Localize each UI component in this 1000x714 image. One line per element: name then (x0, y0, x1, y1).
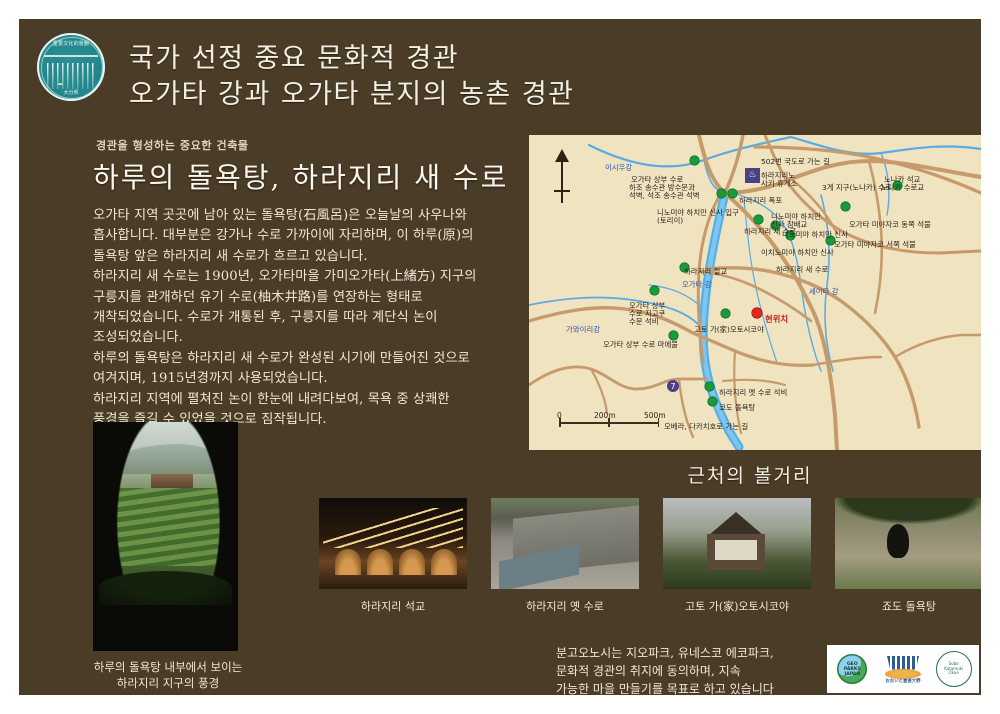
photo-cave-opening (93, 422, 238, 651)
map-label: 이치노미야 하치만 신사 (761, 248, 834, 257)
body-line: 구릉지를 관개하던 유기 수로(柚木井路)를 연장하는 형태로 (93, 288, 513, 308)
main-photo-caption: 하루의 돌욕탕 내부에서 보이는 하라지리 지구의 풍경 (29, 659, 307, 691)
map-marker-dot[interactable] (669, 331, 678, 340)
canal-photo (491, 498, 639, 589)
scale-end: 500m (644, 411, 666, 420)
body-line: 개착되었습니다. 수로가 개통된 후, 구릉지를 따라 계단식 논이 (93, 308, 513, 328)
body-line: 여겨지며, 1915년경까지 사용되었습니다. (93, 369, 513, 389)
map-marker-dot[interactable] (717, 189, 726, 198)
section-eyebrow: 경관을 형성하는 중요한 건축물 (96, 137, 249, 153)
stone-bath-photo (835, 498, 981, 589)
nearby-caption: 하라지리 석교 (319, 598, 467, 614)
map-label: 3게 지구(노나카) 수로 (822, 183, 892, 192)
nearby-item[interactable]: 하라지리 옛 수로 (491, 498, 639, 614)
main-photo-caption-line1: 하루의 돌욕탕 내부에서 보이는 (29, 659, 307, 675)
map-marker-dot[interactable] (705, 382, 714, 391)
body-line: 오가타 지역 곳곳에 남아 있는 돌욕탕(石風呂)은 오늘날의 사우나와 (93, 206, 513, 226)
globe-icon: GEOPARKSJAPAN (837, 654, 867, 684)
map-marker-dot[interactable] (841, 202, 850, 211)
scale-mid: 200m (594, 411, 616, 420)
map-label: 가와이리강 (566, 325, 600, 334)
photo-cave-floor (99, 571, 232, 605)
map-marker-dot[interactable] (754, 215, 763, 224)
map-marker-dot[interactable] (721, 309, 730, 318)
current-location-marker[interactable] (752, 308, 762, 318)
rest-area-icon[interactable]: ♨ (745, 168, 760, 183)
map-label: 수문 석비 (629, 317, 659, 326)
main-photo-caption-line2: 하라지리 지구의 풍경 (29, 675, 307, 691)
map-label: 하라지리 옛 수로 석비 (719, 388, 787, 397)
map-scale-bar: 0 200m 500m (559, 411, 659, 424)
emblem-waterfall-icon (47, 63, 95, 89)
map-marker-dot[interactable] (728, 189, 737, 198)
body-line: 하라지리 지역에 펼쳐진 논이 한눈에 내려다보여, 목욕 중 상쾌한 (93, 390, 513, 410)
oita-bungono-geopark-logo: おおいた豊後大野 (881, 648, 925, 690)
nearby-item[interactable]: 죠도 돌욕탕 (835, 498, 981, 614)
current-location-label: 현위치 (765, 315, 788, 324)
body-line: 하라지리 새 수로는 1900년, 오가타마을 가미오가타(上緒方) 지구의 (93, 267, 513, 287)
thumbnail-image-stone-bridge[interactable] (319, 498, 467, 589)
nearby-item[interactable]: 고토 가(家)오토시코야 (663, 498, 811, 614)
geopark-mark-icon (885, 655, 921, 679)
footer-line2: 문화적 경관의 취지에 동의하며, 지속 (556, 662, 836, 680)
poster-panel: 重要文化的景観 大分県 국가 선정 중요 문화적 경관 오가타 강과 오가타 분… (19, 19, 981, 695)
map-marker-dot[interactable] (690, 156, 699, 165)
map-marker-dot[interactable] (708, 397, 717, 406)
map-label: 고토 가(家)오토시코야 (694, 325, 764, 334)
map-label: 석벽, 석조 송수관 석벽 (629, 191, 700, 200)
poster-header: 重要文化的景観 大分県 국가 선정 중요 문화적 경관 오가타 강과 오가타 분… (19, 19, 981, 123)
map-label: 이시우강 (605, 163, 632, 172)
body-line: 흡사합니다. 대부분은 강가나 수로 가까이에 자리하며, 이 하루(原)의 (93, 226, 513, 246)
map-label: 오가타 미야자코 동쪽 석불 (849, 220, 931, 229)
nearby-caption: 하라지리 옛 수로 (491, 598, 639, 614)
map-label: 502번 국도로 가는 길 (761, 157, 830, 166)
map-label: 오가타 상부 수로 마에불 (603, 340, 678, 349)
nearby-thumbnails: 하라지리 석교 하라지리 옛 수로 고토 가(家)오토시코야 (319, 498, 981, 614)
map-label: 하라지리 새 수로 (776, 265, 828, 274)
nearby-item[interactable]: 하라지리 석교 (319, 498, 467, 614)
oita-logo-text: おおいた豊後大野 (885, 679, 920, 684)
map-label: 오가타 강 (682, 280, 712, 289)
map-label: (토리이) (657, 216, 683, 225)
nearby-caption: 죠도 돌욕탕 (835, 598, 981, 614)
body-text: 오가타 지역 곳곳에 남아 있는 돌욕탕(石風呂)은 오늘날의 사우나와 흡사합… (93, 206, 513, 430)
nearby-section-title: 근처의 볼거리 (519, 461, 981, 488)
house-photo (663, 498, 811, 589)
body-line: 하루의 돌욕탕은 하라지리 새 수로가 완성된 시기에 만들어진 것으로 (93, 349, 513, 369)
biosphere-reserve-logo: SoboKatamukiOkue (932, 648, 976, 690)
map-label: 세이타 강 (809, 287, 839, 296)
emblem-top-text: 重要文化的景観 (37, 41, 105, 47)
header-titles: 국가 선정 중요 문화적 경관 오가타 강과 오가타 분지의 농촌 경관 (129, 41, 575, 113)
map-label: 하라지리 새 수로 (744, 227, 796, 236)
main-photo (93, 422, 238, 651)
partner-logos: GEOPARKSJAPAN おおいた豊後大野 SoboKatamukiOkue (827, 645, 979, 693)
map-label: 하라지리 폭포 (739, 196, 782, 205)
page-title: 하루의 돌욕탕, 하라지리 새 수로 (93, 156, 508, 196)
map-label: 쿄도 돌욕탕 (719, 403, 755, 412)
body-line: 조성되었습니다. (93, 328, 513, 348)
map-label: 사키 휴게소 (761, 179, 797, 188)
footer-note: 분고오노시는 지오파크, 유네스코 에코파크, 문화적 경관의 취지에 동의하며… (556, 644, 836, 695)
bridge-photo (319, 498, 467, 589)
nearby-caption: 고토 가(家)오토시코야 (663, 598, 811, 614)
biosphere-icon: SoboKatamukiOkue (936, 651, 972, 687)
route-number-icon[interactable]: 7 (667, 380, 679, 392)
footer-line3: 가능한 마을 만들기를 목표로 하고 있습니다 (556, 680, 836, 695)
emblem-bottom-text: 大分県 (37, 89, 105, 96)
thumbnail-image-goto-house[interactable] (663, 498, 811, 589)
body-line: 돌욕탕 앞은 하라지리 새 수로가 흐르고 있습니다. (93, 247, 513, 267)
area-map[interactable]: 현위치♨7이시우강오가타 상부 수로하조 송수관 방수문과석벽, 석조 송수관 … (529, 135, 981, 450)
thumbnail-image-jodo-stone-bath[interactable] (835, 498, 981, 589)
cultural-landscape-emblem: 重要文化的景観 大分県 (37, 33, 105, 101)
map-label: 하라지리 철교 (684, 267, 727, 276)
map-label: 오가타 미야자코 서쪽 석불 (834, 240, 916, 249)
geoparks-japan-logo: GEOPARKSJAPAN (830, 648, 874, 690)
header-title-line2: 오가타 강과 오가타 분지의 농촌 경관 (129, 77, 575, 113)
scale-line (559, 422, 659, 424)
north-arrow-icon (551, 149, 573, 205)
bridge-lights (323, 508, 463, 548)
thumbnail-image-old-canal[interactable] (491, 498, 639, 589)
map-marker-dot[interactable] (650, 286, 659, 295)
header-title-line1: 국가 선정 중요 문화적 경관 (129, 41, 575, 77)
map-label: 오베라, 다카치호로 가는 길 (664, 422, 748, 431)
footer-line1: 분고오노시는 지오파크, 유네스코 에코파크, (556, 644, 836, 662)
